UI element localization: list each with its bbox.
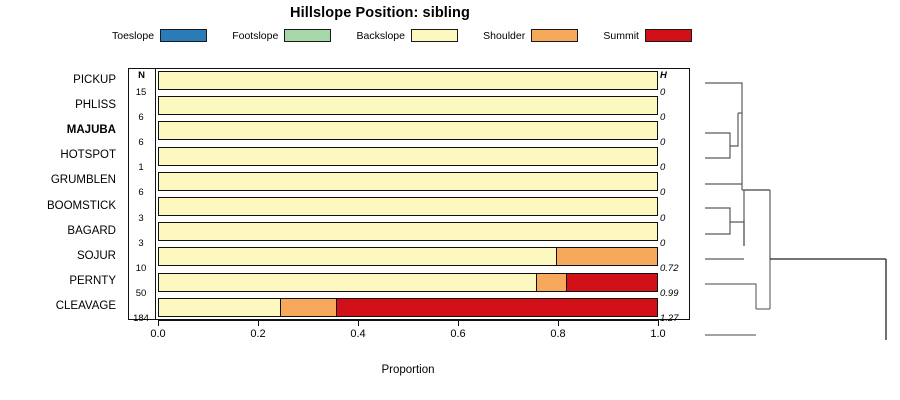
x-axis-tick-label: 0.0 (138, 328, 178, 340)
bar-segment-backslope (159, 198, 657, 215)
x-axis-tick-label: 0.2 (238, 328, 278, 340)
bar-segment-summit (337, 299, 657, 316)
bar-boomstick[interactable] (158, 197, 658, 216)
bar-segment-backslope (159, 97, 657, 114)
bar-segment-shoulder (557, 248, 657, 265)
x-axis-tick (558, 320, 559, 326)
x-axis-tick-label: 1.0 (638, 328, 678, 340)
bar-grumblen[interactable] (158, 172, 658, 191)
bar-segment-backslope (159, 148, 657, 165)
x-axis-tick (258, 320, 259, 326)
bar-majuba[interactable] (158, 121, 658, 140)
chart-root: Hillslope Position: sibling ToeslopeFoot… (0, 0, 900, 400)
bar-pickup[interactable] (158, 71, 658, 90)
x-axis-line (158, 320, 658, 321)
bar-segment-backslope (159, 299, 281, 316)
x-axis-tick-label: 0.4 (338, 328, 378, 340)
x-axis-tick-label: 0.8 (538, 328, 578, 340)
bar-bagard[interactable] (158, 222, 658, 241)
bar-segment-backslope (159, 274, 537, 291)
x-axis-title: Proportion (158, 364, 658, 376)
bar-segment-shoulder (537, 274, 567, 291)
bar-segment-backslope (159, 248, 557, 265)
bar-segment-backslope (159, 72, 657, 89)
bar-sojur[interactable] (158, 247, 658, 266)
x-axis-tick (658, 320, 659, 326)
bar-segment-shoulder (281, 299, 337, 316)
dendrogram (700, 60, 900, 340)
bar-segment-backslope (159, 173, 657, 190)
bar-phliss[interactable] (158, 96, 658, 115)
bar-segment-summit (567, 274, 657, 291)
x-axis-tick (358, 320, 359, 326)
bar-pernty[interactable] (158, 273, 658, 292)
dendrogram-svg (700, 60, 900, 340)
bar-cleavage[interactable] (158, 298, 658, 317)
x-axis-tick-label: 0.6 (438, 328, 478, 340)
bar-hotspot[interactable] (158, 147, 658, 166)
x-axis-tick (458, 320, 459, 326)
x-axis-tick (158, 320, 159, 326)
bar-segment-backslope (159, 122, 657, 139)
bar-segment-backslope (159, 223, 657, 240)
